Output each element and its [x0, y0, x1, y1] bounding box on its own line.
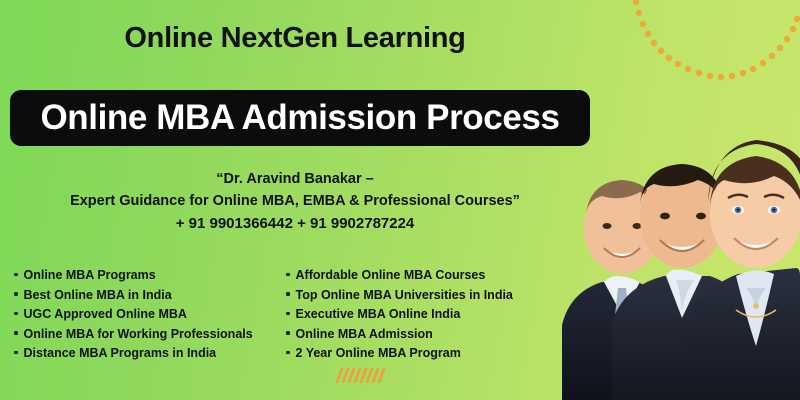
bullet-dot-icon — [14, 331, 18, 335]
headline-banner: Online MBA Admission Process — [10, 90, 590, 146]
list-item: Affordable Online MBA Courses — [286, 266, 576, 286]
bullet-dot-icon — [286, 312, 290, 316]
promotional-banner: Online NextGen Learning Online MBA Admis… — [0, 0, 800, 400]
diagonal-slash-decoration — [338, 368, 383, 383]
bullet-dot-icon — [286, 331, 290, 335]
bullet-dot-icon — [14, 292, 18, 296]
diagonal-slash-icon — [359, 368, 367, 383]
bullet-dot-icon — [286, 273, 290, 277]
list-item: Online MBA Admission — [286, 325, 576, 345]
list-item: 2 Year Online MBA Program — [286, 344, 576, 364]
list-item-label: Online MBA Programs — [24, 266, 156, 286]
bullet-dot-icon — [14, 351, 18, 355]
orange-dotted-arc-icon — [620, 0, 800, 120]
quote-line-1: “Dr. Aravind Banakar – — [0, 168, 590, 190]
bullet-dot-icon — [286, 351, 290, 355]
diagonal-slash-icon — [365, 368, 373, 383]
bullet-dot-icon — [286, 292, 290, 296]
list-item: Online MBA for Working Professionals — [14, 325, 286, 345]
list-item-label: Top Online MBA Universities in India — [296, 286, 513, 306]
list-item-label: Online MBA for Working Professionals — [24, 325, 253, 345]
bullet-dot-icon — [14, 273, 18, 277]
list-item-label: UGC Approved Online MBA — [24, 305, 187, 325]
list-item-label: Affordable Online MBA Courses — [296, 266, 486, 286]
diagonal-slash-icon — [347, 368, 355, 383]
diagonal-slash-icon — [353, 368, 361, 383]
list-item: Best Online MBA in India — [14, 286, 286, 306]
bullet-dot-icon — [14, 312, 18, 316]
bullet-column-left: Online MBA Programs Best Online MBA in I… — [14, 266, 286, 364]
quote-block: “Dr. Aravind Banakar – Expert Guidance f… — [0, 168, 590, 236]
diagonal-slash-icon — [341, 368, 349, 383]
list-item: Top Online MBA Universities in India — [286, 286, 576, 306]
list-item-label: 2 Year Online MBA Program — [296, 344, 461, 364]
list-item: UGC Approved Online MBA — [14, 305, 286, 325]
list-item: Distance MBA Programs in India — [14, 344, 286, 364]
headline-text: Online MBA Admission Process — [40, 98, 559, 138]
list-item-label: Distance MBA Programs in India — [24, 344, 217, 364]
list-item-label: Best Online MBA in India — [24, 286, 172, 306]
diagonal-slash-icon — [371, 368, 379, 383]
keyword-bullet-lists: Online MBA Programs Best Online MBA in I… — [14, 266, 584, 364]
list-item-label: Executive MBA Online India — [296, 305, 461, 325]
bullet-column-right: Affordable Online MBA Courses Top Online… — [286, 266, 576, 364]
list-item-label: Online MBA Admission — [296, 325, 433, 345]
diagonal-slash-icon — [377, 368, 385, 383]
three-business-professionals-photo — [560, 110, 800, 400]
quote-line-2: Expert Guidance for Online MBA, EMBA & P… — [0, 190, 590, 212]
phone-numbers: + 91 9901366442 + 91 9902787224 — [0, 212, 590, 236]
diagonal-slash-icon — [335, 368, 343, 383]
list-item: Online MBA Programs — [14, 266, 286, 286]
brand-title: Online NextGen Learning — [0, 22, 590, 55]
list-item: Executive MBA Online India — [286, 305, 576, 325]
